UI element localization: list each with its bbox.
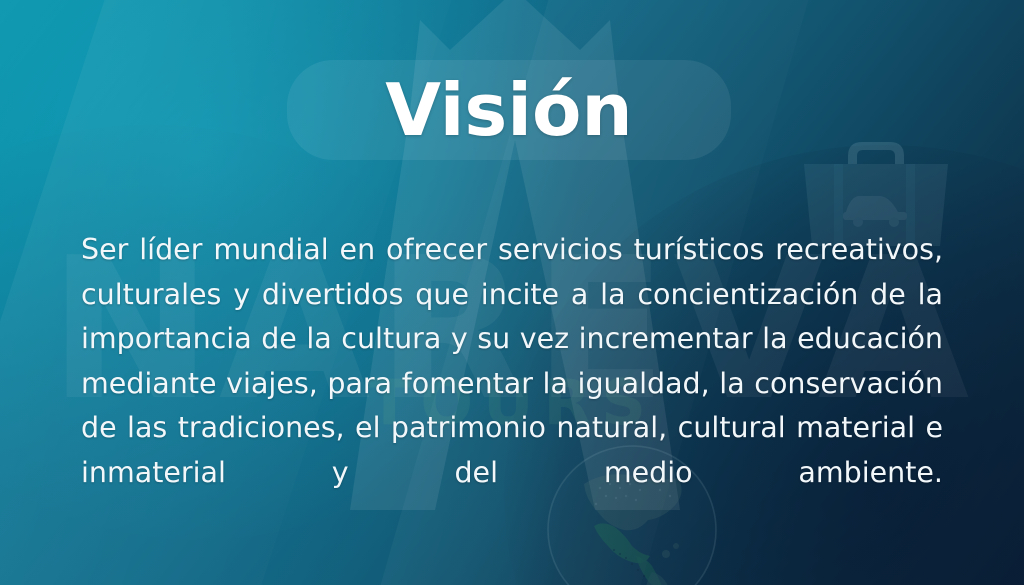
presentation-slide: NAREVA TOURS: [0, 0, 1024, 585]
title-pill: Visión: [287, 60, 731, 160]
body-paragraph: Ser líder mundial en ofrecer servicios t…: [81, 228, 943, 540]
page-title: Visión: [385, 74, 632, 146]
car-icon: [843, 196, 907, 227]
